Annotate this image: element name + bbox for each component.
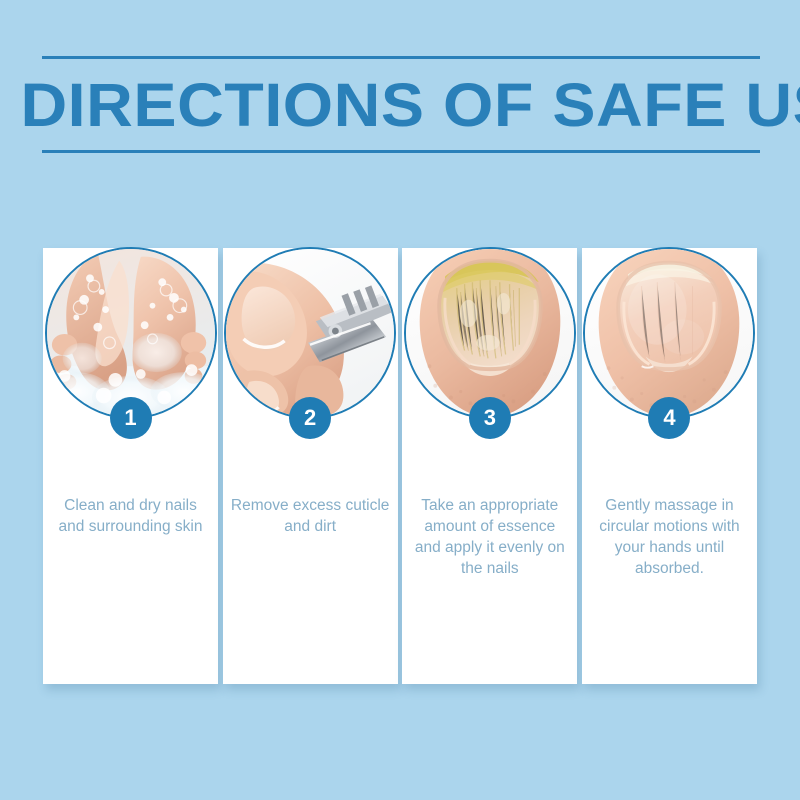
discolored-fungal-toenail-photo [404, 247, 576, 419]
title-rule-bottom [42, 150, 760, 153]
step-card-3[interactable]: 3 Take an appropriate amount of essence … [402, 248, 577, 684]
title-rule-top [42, 56, 760, 59]
step-caption-2: Remove excess cuticle and dirt [231, 495, 390, 537]
poster-root: DIRECTIONS OF SAFE USE [0, 0, 800, 800]
step-card-1[interactable]: 1 Clean and dry nails and surrounding sk… [43, 248, 218, 684]
step-2-photo-wrap: 2 [224, 247, 396, 419]
step-1-photo-wrap: 1 [45, 247, 217, 419]
header: DIRECTIONS OF SAFE USE [42, 56, 760, 153]
step-badge-3: 3 [469, 397, 511, 439]
step-badge-1: 1 [110, 397, 152, 439]
step-badge-2: 2 [289, 397, 331, 439]
step-caption-3: Take an appropriate amount of essence an… [410, 495, 569, 579]
step-3-photo-wrap: 3 [404, 247, 576, 419]
step-badge-4: 4 [648, 397, 690, 439]
step-caption-4: Gently massage in circular motions with … [590, 495, 749, 579]
steps-row: 1 Clean and dry nails and surrounding sk… [43, 248, 757, 684]
healthy-clear-toenail-photo [583, 247, 755, 419]
toenail-clipper-trimming-photo [224, 247, 396, 419]
step-card-2[interactable]: 2 Remove excess cuticle and dirt [223, 248, 398, 684]
step-card-4[interactable]: 4 Gently massage in circular motions wit… [582, 248, 757, 684]
step-4-photo-wrap: 4 [583, 247, 755, 419]
step-caption-1: Clean and dry nails and surrounding skin [51, 495, 210, 537]
page-title: DIRECTIONS OF SAFE USE [20, 63, 781, 147]
feet-washing-with-soap-suds-photo [45, 247, 217, 419]
